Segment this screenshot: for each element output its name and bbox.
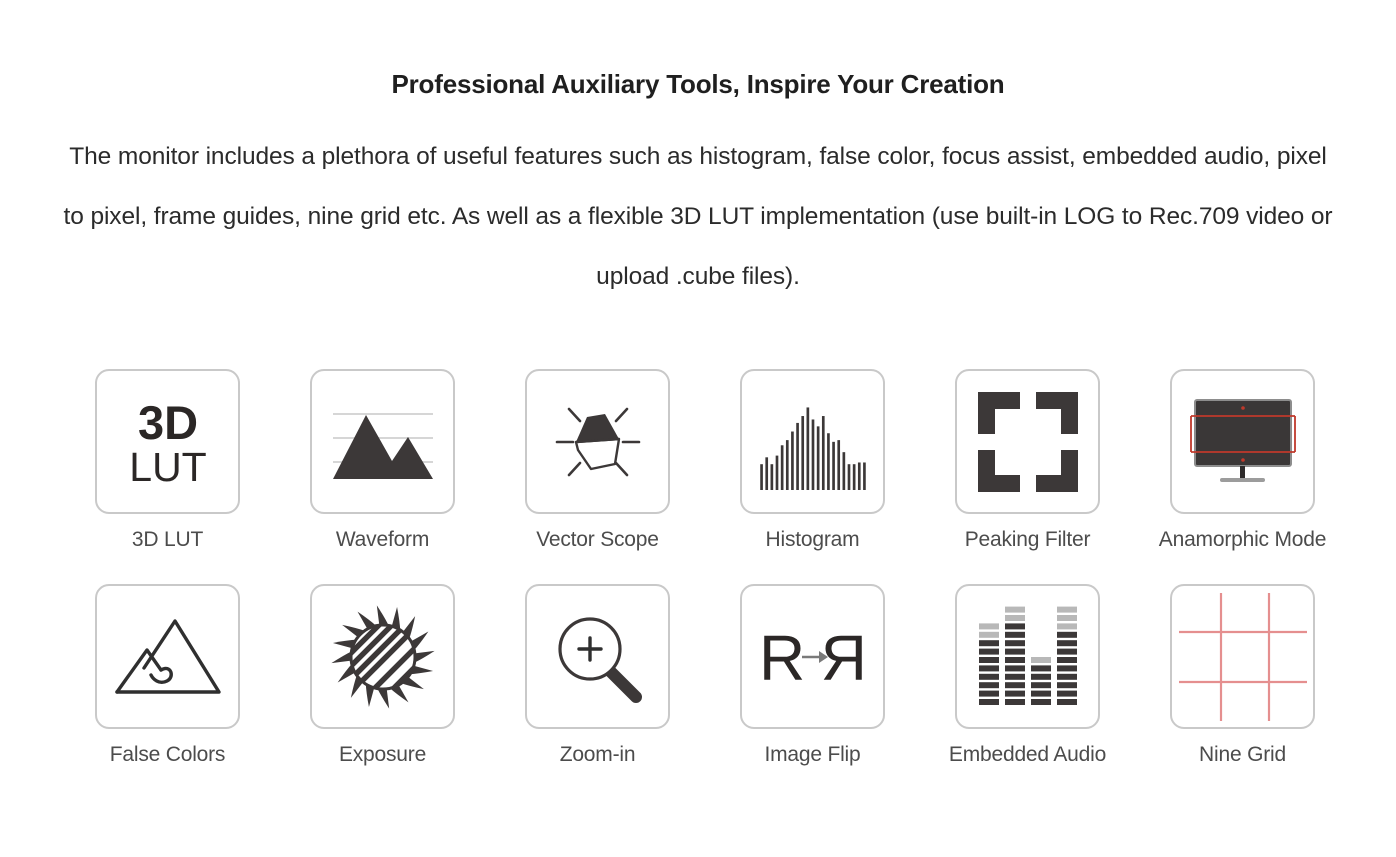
audio-segment xyxy=(1057,657,1077,663)
audio-segment xyxy=(1005,682,1025,688)
histogram-bar xyxy=(852,464,855,490)
histogram-bar xyxy=(863,462,866,490)
feature-item-peaking-filter[interactable]: Peaking Filter xyxy=(920,369,1135,584)
feature-label: 3D LUT xyxy=(132,528,203,552)
audio-segment xyxy=(1005,657,1025,663)
waveform-icon-box xyxy=(310,369,455,514)
image-flip-letter-left: R xyxy=(759,622,805,694)
audio-segment xyxy=(979,674,999,680)
false-colors-icon-box xyxy=(95,584,240,729)
feature-label: False Colors xyxy=(110,743,225,767)
audio-segment xyxy=(1031,674,1051,680)
histogram-bar xyxy=(760,464,763,490)
audio-segment xyxy=(1057,632,1077,638)
sun-ray xyxy=(376,687,388,708)
embedded-audio-icon-box xyxy=(955,584,1100,729)
audio-segment xyxy=(1057,649,1077,655)
feature-item-waveform[interactable]: Waveform xyxy=(275,369,490,584)
audio-segment xyxy=(1057,607,1077,613)
feature-label: Waveform xyxy=(336,528,429,552)
audio-segment xyxy=(979,640,999,646)
audio-segment xyxy=(1057,691,1077,697)
feature-label: Embedded Audio xyxy=(949,743,1106,767)
page-title: Professional Auxiliary Tools, Inspire Yo… xyxy=(0,17,1396,100)
audio-segment xyxy=(1005,649,1025,655)
feature-item-nine-grid[interactable]: Nine Grid xyxy=(1135,584,1350,799)
feature-item-embedded-audio[interactable]: Embedded Audio xyxy=(920,584,1135,799)
audio-segment xyxy=(1057,623,1077,629)
histogram-bar xyxy=(857,462,860,490)
audio-segment xyxy=(1005,699,1025,705)
histogram-bar xyxy=(827,433,830,490)
histogram-bar xyxy=(785,440,788,490)
sun-ray xyxy=(376,605,388,626)
feature-item-false-colors[interactable]: False Colors xyxy=(60,584,275,799)
audio-segment xyxy=(979,623,999,629)
audio-segment xyxy=(1031,682,1051,688)
histogram-bar xyxy=(765,457,768,490)
image-flip-letter-right: R xyxy=(820,622,866,694)
image-flip-icon: R R xyxy=(755,617,871,697)
histogram-icon-box xyxy=(740,369,885,514)
histogram-bar xyxy=(770,464,773,490)
audio-segment xyxy=(1031,691,1051,697)
sun-ray xyxy=(413,651,434,663)
feature-label: Exposure xyxy=(339,743,426,767)
feature-page: Professional Auxiliary Tools, Inspire Yo… xyxy=(0,17,1396,857)
image-flip-icon-box: R R xyxy=(740,584,885,729)
sun-ray xyxy=(331,651,352,663)
audio-segment xyxy=(1057,665,1077,671)
audio-segment xyxy=(1057,615,1077,621)
feature-item-exposure[interactable]: Exposure xyxy=(275,584,490,799)
histogram-icon xyxy=(759,390,867,494)
3d-lut-icon-box: 3D LUT xyxy=(95,369,240,514)
audio-segment xyxy=(1005,665,1025,671)
peaking-filter-icon-box xyxy=(955,369,1100,514)
histogram-bar xyxy=(847,464,850,490)
audio-segment xyxy=(1031,699,1051,705)
svg-text:LUT: LUT xyxy=(129,444,206,490)
feature-label: Nine Grid xyxy=(1199,743,1286,767)
audio-segment xyxy=(979,682,999,688)
feature-item-image-flip[interactable]: R R Image Flip xyxy=(705,584,920,799)
page-description: The monitor includes a plethora of usefu… xyxy=(63,127,1333,307)
audio-segment xyxy=(1031,657,1051,663)
zoom-in-icon xyxy=(546,605,650,709)
audio-segment xyxy=(1057,674,1077,680)
histogram-bar xyxy=(821,416,824,490)
feature-item-anamorphic-mode[interactable]: Anamorphic Mode xyxy=(1135,369,1350,584)
histogram-bar xyxy=(791,431,794,489)
svg-text:3D: 3D xyxy=(137,396,197,449)
audio-segment xyxy=(1005,640,1025,646)
exposure-icon xyxy=(328,602,438,712)
waveform-icon xyxy=(330,394,436,490)
feature-label: Image Flip xyxy=(764,743,860,767)
feature-label: Histogram xyxy=(766,528,860,552)
feature-item-histogram[interactable]: Histogram xyxy=(705,369,920,584)
vector-scope-icon-box xyxy=(525,369,670,514)
audio-segment xyxy=(979,699,999,705)
feature-label: Peaking Filter xyxy=(965,528,1091,552)
feature-item-vector-scope[interactable]: Vector Scope xyxy=(490,369,705,584)
histogram-bar xyxy=(837,440,840,490)
audio-segment xyxy=(1005,691,1025,697)
audio-segment xyxy=(979,665,999,671)
nine-grid-icon xyxy=(1173,587,1313,727)
audio-segment xyxy=(1005,615,1025,621)
feature-label: Zoom-in xyxy=(560,743,636,767)
zoom-in-icon-box xyxy=(525,584,670,729)
histogram-bar xyxy=(775,456,778,490)
anamorphic-mode-icon xyxy=(1187,392,1299,492)
nine-grid-icon-box xyxy=(1170,584,1315,729)
audio-segment xyxy=(1005,623,1025,629)
feature-item-3d-lut[interactable]: 3D LUT 3D LUT xyxy=(60,369,275,584)
histogram-bar xyxy=(816,426,819,490)
histogram-bar xyxy=(796,423,799,490)
exposure-icon-box xyxy=(310,584,455,729)
feature-label: Vector Scope xyxy=(536,528,659,552)
audio-segment xyxy=(1057,682,1077,688)
audio-segment xyxy=(1031,665,1051,671)
histogram-bar xyxy=(806,407,809,490)
histogram-bar xyxy=(811,419,814,490)
audio-segment xyxy=(1005,674,1025,680)
histogram-bar xyxy=(832,442,835,490)
audio-segment xyxy=(1057,640,1077,646)
audio-segment xyxy=(1005,607,1025,613)
anamorphic-mode-icon-box xyxy=(1170,369,1315,514)
feature-grid: 3D LUT 3D LUT Waveform xyxy=(60,369,1340,799)
histogram-bar xyxy=(842,452,845,490)
audio-segment xyxy=(979,691,999,697)
audio-segment xyxy=(979,657,999,663)
false-colors-icon xyxy=(113,609,223,705)
audio-segment xyxy=(1005,632,1025,638)
vector-scope-icon xyxy=(543,387,653,497)
3d-lut-icon: 3D LUT xyxy=(113,387,223,497)
feature-item-zoom-in[interactable]: Zoom-in xyxy=(490,584,705,799)
peaking-filter-icon xyxy=(978,392,1078,492)
feature-label: Anamorphic Mode xyxy=(1159,528,1326,552)
embedded-audio-icon xyxy=(975,605,1081,709)
histogram-bar xyxy=(780,445,783,490)
audio-segment xyxy=(979,649,999,655)
histogram-bar xyxy=(801,416,804,490)
audio-segment xyxy=(979,632,999,638)
audio-segment xyxy=(1057,699,1077,705)
